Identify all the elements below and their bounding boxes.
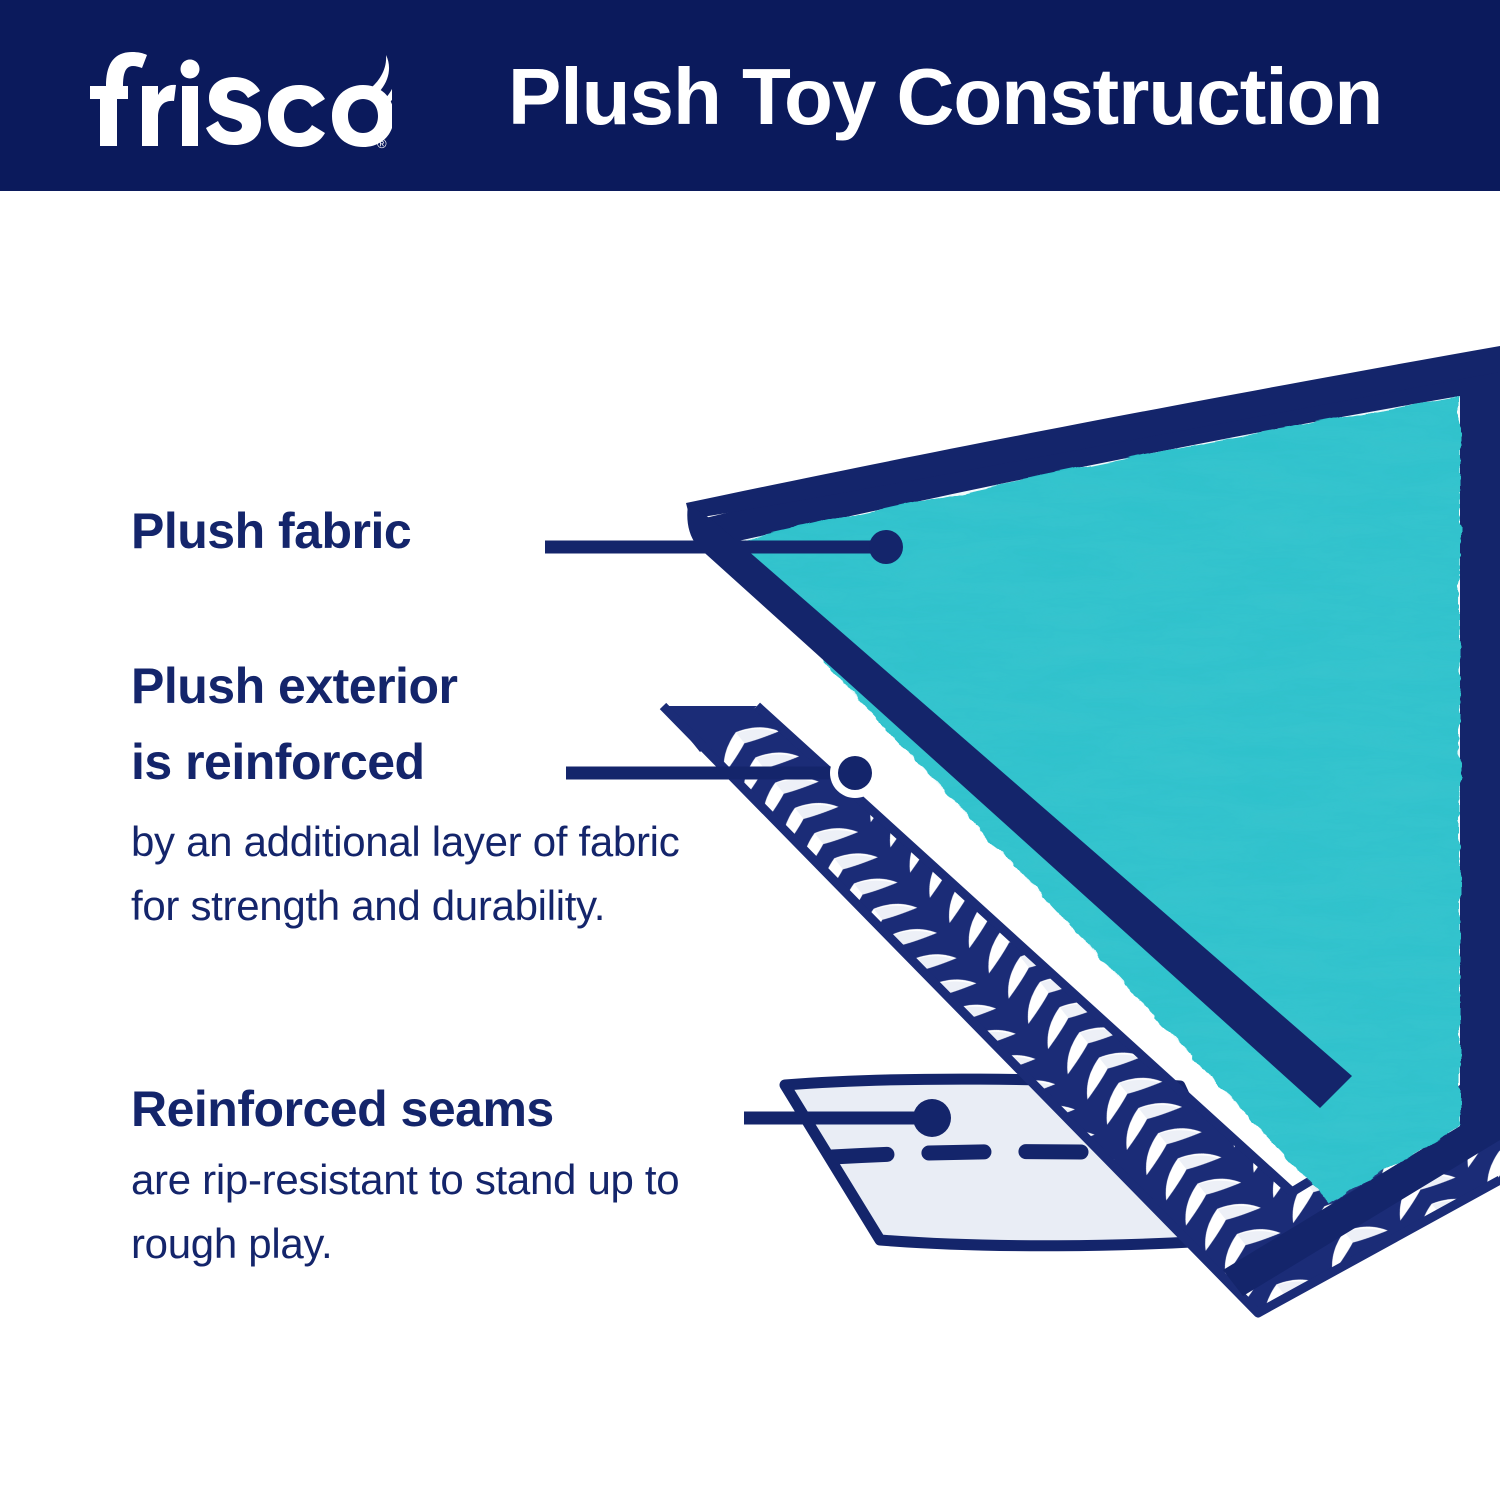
stitch-dashed-line: [832, 1152, 1200, 1157]
callout-plush-fabric: Plush fabric: [131, 500, 561, 562]
infographic-page: ® Plush Toy Construction: [0, 0, 1500, 1500]
callout-heading-line-2: is reinforced: [131, 724, 721, 800]
page-title: Plush Toy Construction: [508, 42, 1408, 152]
callout-body-reinforced-seams: are rip-resistant to stand up to rough p…: [131, 1148, 791, 1276]
frisco-logo: ®: [72, 36, 392, 156]
header-bar: ® Plush Toy Construction: [0, 0, 1500, 191]
callout-plush-exterior: Plush exterior is reinforced by an addit…: [131, 648, 721, 938]
leader-dot-reinforced-seams: [913, 1099, 951, 1137]
svg-text:®: ®: [377, 136, 387, 151]
callout-heading-line-1: Plush exterior: [131, 648, 721, 724]
callout-body-plush-exterior: by an additional layer of fabric for str…: [131, 810, 721, 938]
seam-flap: [785, 1079, 1250, 1246]
plush-fabric-layer: [686, 346, 1500, 1296]
leader-dot-plush-exterior: [838, 756, 872, 790]
callout-heading-plush-fabric: Plush fabric: [131, 500, 561, 562]
callout-reinforced-seams: Reinforced seams are rip-resistant to st…: [131, 1078, 791, 1276]
callout-heading-reinforced-seams: Reinforced seams: [131, 1078, 791, 1140]
leader-dot-halo-plush-exterior: [830, 748, 880, 798]
leader-dot-plush-fabric: [869, 530, 903, 564]
